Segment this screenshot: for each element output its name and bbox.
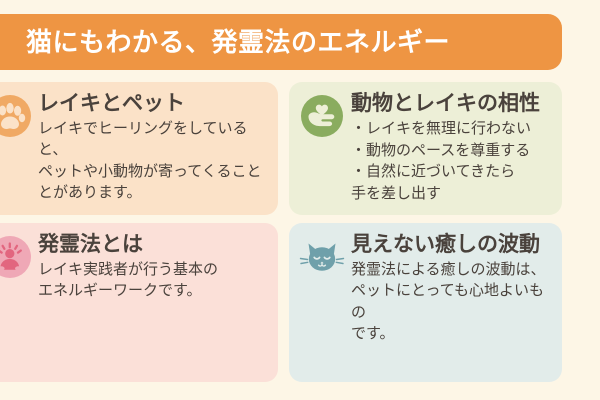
title-banner: 猫にもわかる、発霊法のエネルギー [0,14,562,70]
list-item: 動物のペースを尊重する [351,140,554,162]
hand-holding-heart-icon [299,92,345,207]
card-body: レイキとペット レイキでヒーリングをしていると、 ペットや小動物が寄ってくること… [32,92,270,207]
card-invisible-healing-waves: 見えない癒しの波動 発霊法による癒しの波動は、 ペットにとっても心地よいもの で… [289,223,562,382]
card-body: 動物とレイキの相性 レイキを無理に行わない 動物のペースを尊重する 自然に近づい… [345,92,554,207]
card-text: レイキ実践者が行う基本の エネルギーワークです。 [38,259,270,302]
infographic-page: 猫にもわかる、発霊法のエネルギー レイキとペット レイキでヒーリングをしていると… [0,0,600,400]
page-title: 猫にもわかる、発霊法のエネルギー [26,29,450,55]
card-title: 動物とレイキの相性 [351,92,554,116]
card-title: レイキとペット [38,92,270,116]
card-bullet-list: レイキを無理に行わない 動物のペースを尊重する 自然に近づいてきたら 手を差し出… [351,118,554,204]
card-what-is-hatsureiho: 発霊法とは レイキ実践者が行う基本の エネルギーワークです。 [0,223,278,382]
card-body: 見えない癒しの波動 発霊法による癒しの波動は、 ペットにとっても心地よいもの で… [345,233,554,374]
paw-print-icon [0,92,32,207]
card-animals-and-reiki-affinity: 動物とレイキの相性 レイキを無理に行わない 動物のペースを尊重する 自然に近づい… [289,82,562,215]
meditating-person-icon [0,233,32,374]
card-grid: レイキとペット レイキでヒーリングをしていると、 ペットや小動物が寄ってくること… [0,82,562,382]
card-title: 発霊法とは [38,233,270,257]
card-reiki-and-pets: レイキとペット レイキでヒーリングをしていると、 ペットや小動物が寄ってくること… [0,82,278,215]
list-item: 自然に近づいてきたら 手を差し出す [351,161,554,204]
card-body: 発霊法とは レイキ実践者が行う基本の エネルギーワークです。 [32,233,270,374]
card-text: レイキでヒーリングをしていると、 ペットや小動物が寄ってくること とがあります。 [38,118,270,203]
card-title: 見えない癒しの波動 [351,233,554,257]
cat-face-icon [299,233,345,374]
card-text: 発霊法による癒しの波動は、 ペットにとっても心地よいもの です。 [351,259,554,344]
list-item: レイキを無理に行わない [351,118,554,140]
